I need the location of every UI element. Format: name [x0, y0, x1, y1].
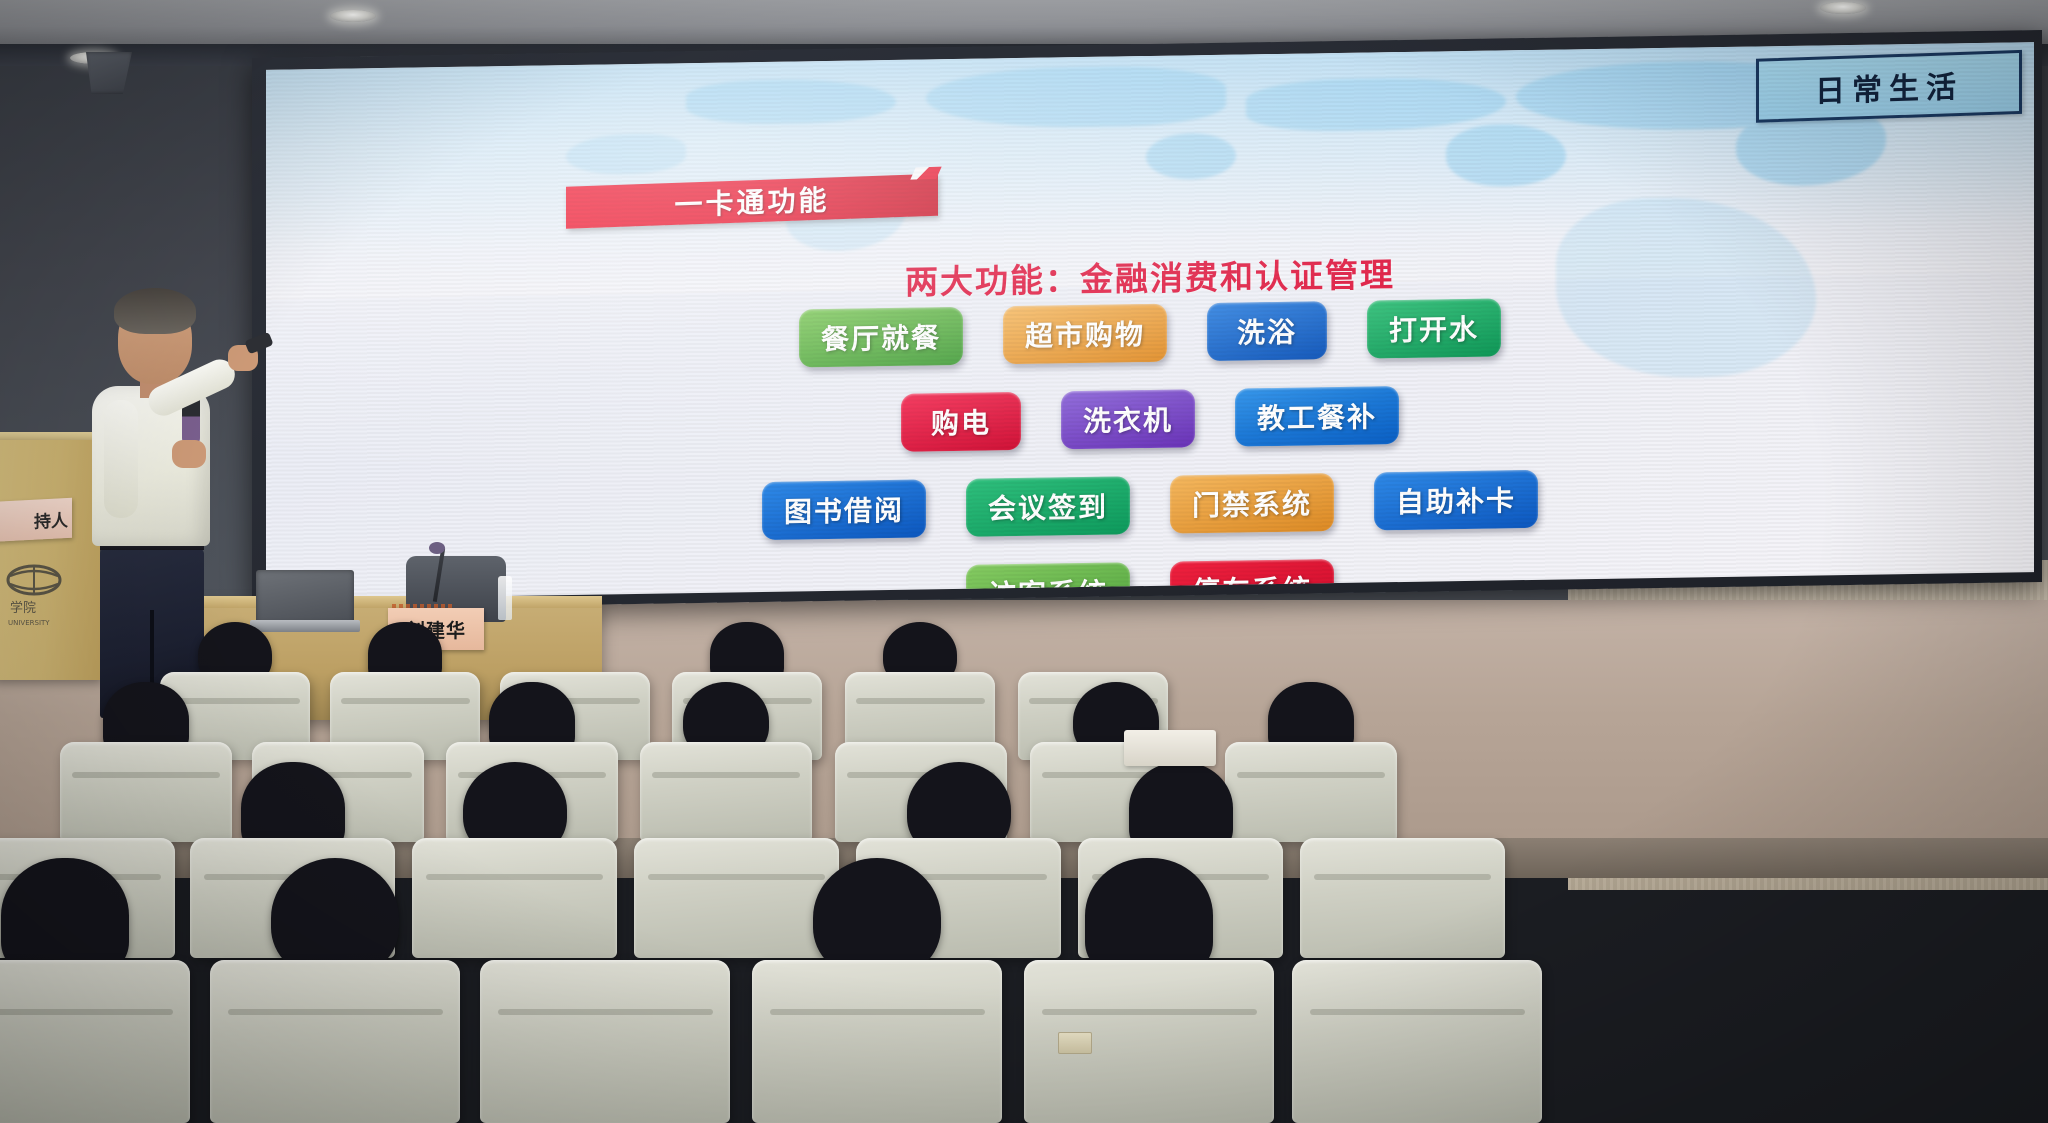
- function-chip[interactable]: 会议签到: [966, 476, 1130, 537]
- svg-text:UNIVERSITY: UNIVERSITY: [8, 619, 50, 627]
- audience-seat: [1300, 838, 1505, 958]
- function-chip-grid: 餐厅就餐超市购物洗浴打开水购电洗衣机教工餐补图书借阅会议签到门禁系统自助补卡访客…: [266, 290, 2034, 600]
- svg-text:学院: 学院: [10, 600, 36, 616]
- audience-seat: [1225, 742, 1397, 842]
- audience-seat: [60, 742, 232, 842]
- audience-seat: [1292, 960, 1542, 1123]
- function-chip[interactable]: 打开水: [1367, 298, 1501, 358]
- host-name-placard: 持人: [0, 498, 72, 543]
- function-chip[interactable]: 购电: [901, 392, 1021, 452]
- function-chip[interactable]: 访客系统: [966, 562, 1130, 600]
- audience-seat: [634, 838, 839, 958]
- audience-seat: [412, 838, 617, 958]
- function-chip[interactable]: 图书借阅: [762, 479, 926, 540]
- laptop-screen: [256, 570, 354, 624]
- function-chip[interactable]: 教工餐补: [1235, 386, 1399, 447]
- function-chip[interactable]: 自助补卡: [1374, 470, 1538, 531]
- audience-seat: [0, 960, 190, 1123]
- presentation-screen: 一卡通功能 两大功能：金融消费和认证管理 日常生活 餐厅就餐超市购物洗浴打开水购…: [266, 42, 2034, 600]
- audience-seat: [210, 960, 460, 1123]
- audience-seat: [480, 960, 730, 1123]
- presenter-hair: [114, 288, 196, 334]
- presenter-right-hand: [172, 440, 206, 468]
- function-chip[interactable]: 洗衣机: [1061, 389, 1195, 449]
- ceiling-downlight: [330, 10, 376, 22]
- function-chip[interactable]: 餐厅就餐: [799, 307, 963, 368]
- table-edge: [172, 596, 602, 608]
- presenter-right-arm: [104, 400, 138, 518]
- desk-microphone-head: [429, 542, 445, 554]
- function-chip[interactable]: 超市购物: [1003, 304, 1167, 365]
- water-bottle: [498, 576, 512, 620]
- university-logo-icon: 学院 UNIVERSITY: [4, 560, 90, 638]
- corner-label-text: 日常生活: [1815, 62, 1963, 111]
- folding-writing-tray: [1124, 730, 1216, 766]
- led-screen-bezel: 一卡通功能 两大功能：金融消费和认证管理 日常生活 餐厅就餐超市购物洗浴打开水购…: [252, 30, 2042, 610]
- laptop-keyboard: [250, 620, 360, 632]
- chip-row: 图书借阅会议签到门禁系统自助补卡: [266, 462, 2034, 548]
- auditorium-scene: 一卡通功能 两大功能：金融消费和认证管理 日常生活 餐厅就餐超市购物洗浴打开水购…: [0, 0, 2048, 1123]
- function-chip[interactable]: 门禁系统: [1170, 473, 1334, 534]
- ceiling-downlight: [1820, 2, 1866, 14]
- seat-number-plate: [1058, 1032, 1092, 1054]
- audience-seat: [640, 742, 812, 842]
- slide-corner-label: 日常生活: [1756, 50, 2022, 123]
- function-chip[interactable]: 洗浴: [1207, 301, 1327, 361]
- chip-row: 购电洗衣机教工餐补: [266, 376, 2034, 462]
- audience-seat: [752, 960, 1002, 1123]
